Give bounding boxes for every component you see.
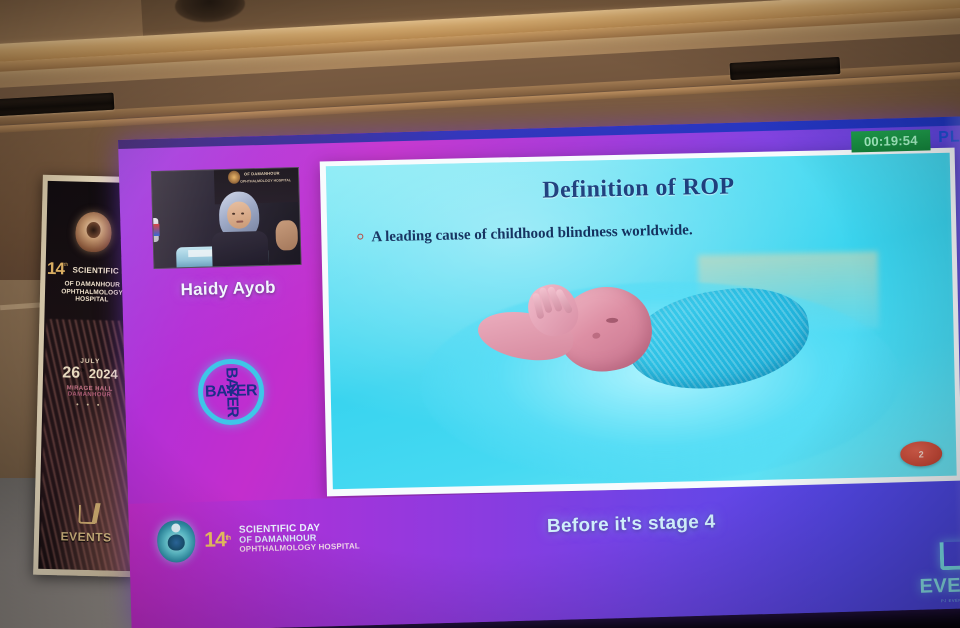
bottom-line3: OPHTHALMOLOGY HOSPITAL [239,542,360,554]
rollup-venue-city: DAMANHOUR [42,391,136,399]
bottom-banner-logos: 14th SCIENTIFIC DAY OF DAMANHOUR OPHTHAL… [157,515,361,563]
hospital-emblem-icon [157,520,196,563]
bottom-event-number-block: 14th [204,529,231,552]
producer-label: EVENT [919,574,960,599]
slide-photo-premature-infant [448,260,873,484]
speaker-eye-left [232,213,235,215]
bottom-event-title: SCIENTIFIC DAY OF DAMANHOUR OPHTHALMOLOG… [239,522,360,554]
bayer-logo: BAYER BAYER [197,358,265,426]
speaker-body [212,231,269,269]
slide-bullet-text: A leading cause of childhood blindness w… [371,222,693,245]
rollup-event-number-suffix: th [64,262,68,268]
countdown-timer: 00:19:54 [851,129,931,152]
rollup-event-number: 14 [47,259,64,279]
bullet-marker-icon [357,234,363,240]
infant-eye [606,318,618,323]
bayer-logo-vertical-text: BAYER [222,367,239,417]
rollup-date-day-suffix: th [80,367,84,373]
infant-nose [592,332,601,339]
producer-sublabel: PJ EVENTS [920,597,960,604]
speaker-figure [205,191,271,269]
audience-hand [275,220,298,251]
backdrop-line1: OF DAMANHOUR [244,170,280,176]
rollup-organizer-label: EVENTS [39,529,133,545]
speaker-mouth [236,221,243,223]
screen-bottom-banner: 14th SCIENTIFIC DAY OF DAMANHOUR OPHTHAL… [128,480,960,628]
hospital-emblem-icon [75,212,112,253]
bottom-event-number: 14 [204,528,226,552]
speaker-name-label: Haidy Ayob [154,277,303,301]
led-presentation-screen: OF DAMANHOUR OPHTHALMOLOGY HOSPITAL Haid… [118,116,960,628]
backdrop-line2: OPHTHALMOLOGY HOSPITAL [240,178,291,183]
speaker-eye-right [241,213,244,215]
backdrop-logo-icon [228,171,240,184]
producer-logo: EVENT PJ EVENTS [918,541,960,604]
rollup-banner-date-block: JULY 26th 2024 MIRAGE HALL DAMANHOUR • •… [42,357,137,410]
microphone-flag [151,224,160,236]
speaker-webcam-feed: OF DAMANHOUR OPHTHALMOLOGY HOSPITAL [151,167,302,269]
rollup-organizer-logo: EVENTS [39,504,134,545]
presentation-tagline: Before it's stage 4 [547,511,716,538]
speaker-face [227,201,252,229]
slide-container: Definition of ROP A leading cause of chi… [320,148,960,497]
pj-monogram-icon [78,505,95,524]
screenshot-root: 14th SCIENTIFIC DAY OF DAMANHOUR OPHTHAL… [0,0,960,628]
rollup-date-day: 26 [62,364,80,381]
presentation-slide: Definition of ROP A leading cause of chi… [326,153,957,490]
bottom-event-number-suffix: th [225,535,230,542]
rollup-date-year: 2024 [89,366,118,382]
